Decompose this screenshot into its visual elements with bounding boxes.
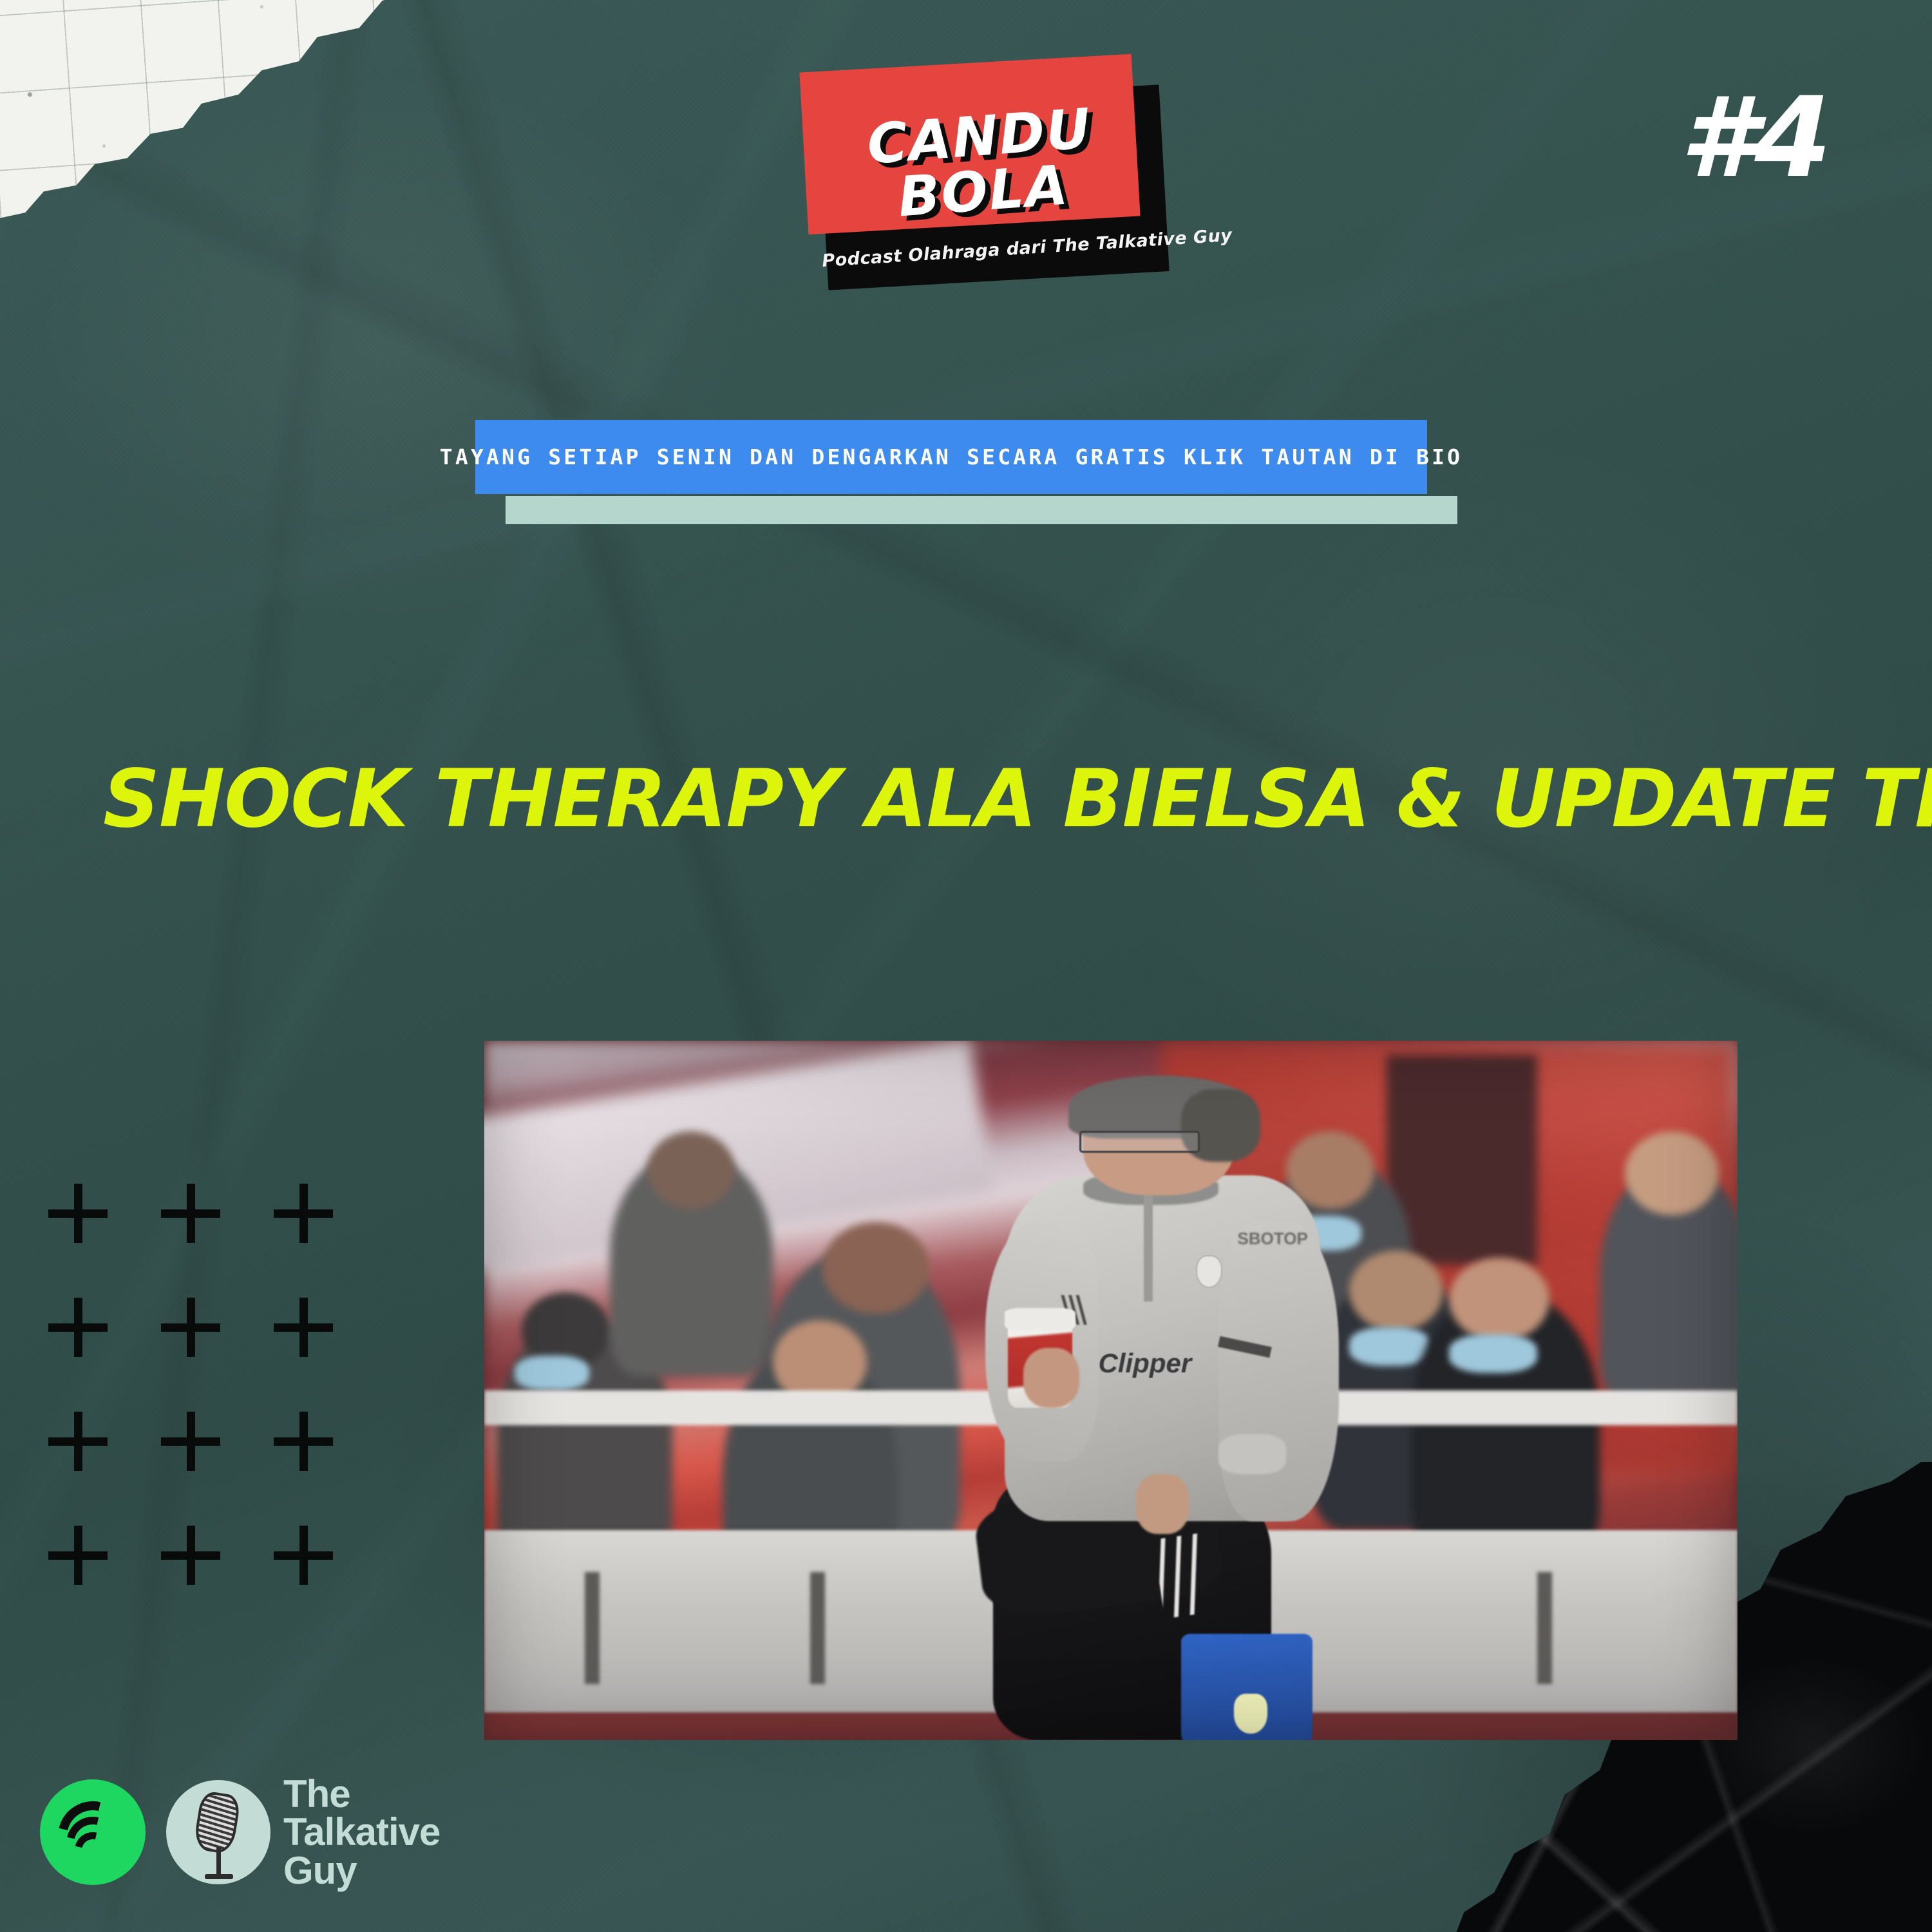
page-title: SHOCK THERAPY ALA BIELSA & UPDATE TRANSF… <box>103 759 1816 840</box>
banner-accent-bar <box>506 496 1457 524</box>
plus-icon <box>161 1412 220 1471</box>
microphone-head <box>193 1790 241 1855</box>
plus-icon <box>48 1412 108 1471</box>
episode-number: #4 <box>1680 82 1829 193</box>
plus-icon <box>274 1184 333 1243</box>
brand-name-line-2: Talkative <box>283 1813 440 1851</box>
plus-icon <box>274 1526 333 1585</box>
photo-vignette <box>484 1041 1738 1740</box>
talkative-guy-logo[interactable]: The Talkative Guy <box>166 1775 440 1889</box>
platform-brand-row: The Talkative Guy <box>40 1775 440 1889</box>
microphone-base <box>205 1874 233 1879</box>
brand-name-line-1: The <box>283 1775 440 1813</box>
brand-name-line-3: Guy <box>283 1851 440 1889</box>
plus-icon <box>48 1298 108 1357</box>
plus-icon <box>161 1184 220 1243</box>
episode-photo: SBOTOP Clipper <box>484 1041 1738 1740</box>
podcast-cover-poster: CANDU BOLA Podcast Olahraga dari The Tal… <box>0 0 1932 1932</box>
plus-icon <box>161 1526 220 1585</box>
plus-grid-decoration <box>48 1184 386 1640</box>
plus-icon <box>48 1184 108 1243</box>
plus-icon <box>48 1526 108 1585</box>
microphone-stem <box>216 1847 221 1877</box>
plus-icon <box>161 1298 220 1357</box>
microphone-icon <box>166 1780 270 1884</box>
brand-name: The Talkative Guy <box>283 1775 440 1889</box>
spotify-icon[interactable] <box>40 1779 146 1885</box>
banner-text: TAYANG SETIAP SENIN DAN DENGARKAN SECARA… <box>440 444 1463 469</box>
show-logo: CANDU BOLA Podcast Olahraga dari The Tal… <box>804 63 1164 282</box>
plus-icon <box>274 1298 333 1357</box>
plus-icon <box>274 1412 333 1471</box>
banner-callout: TAYANG SETIAP SENIN DAN DENGARKAN SECARA… <box>475 420 1427 494</box>
